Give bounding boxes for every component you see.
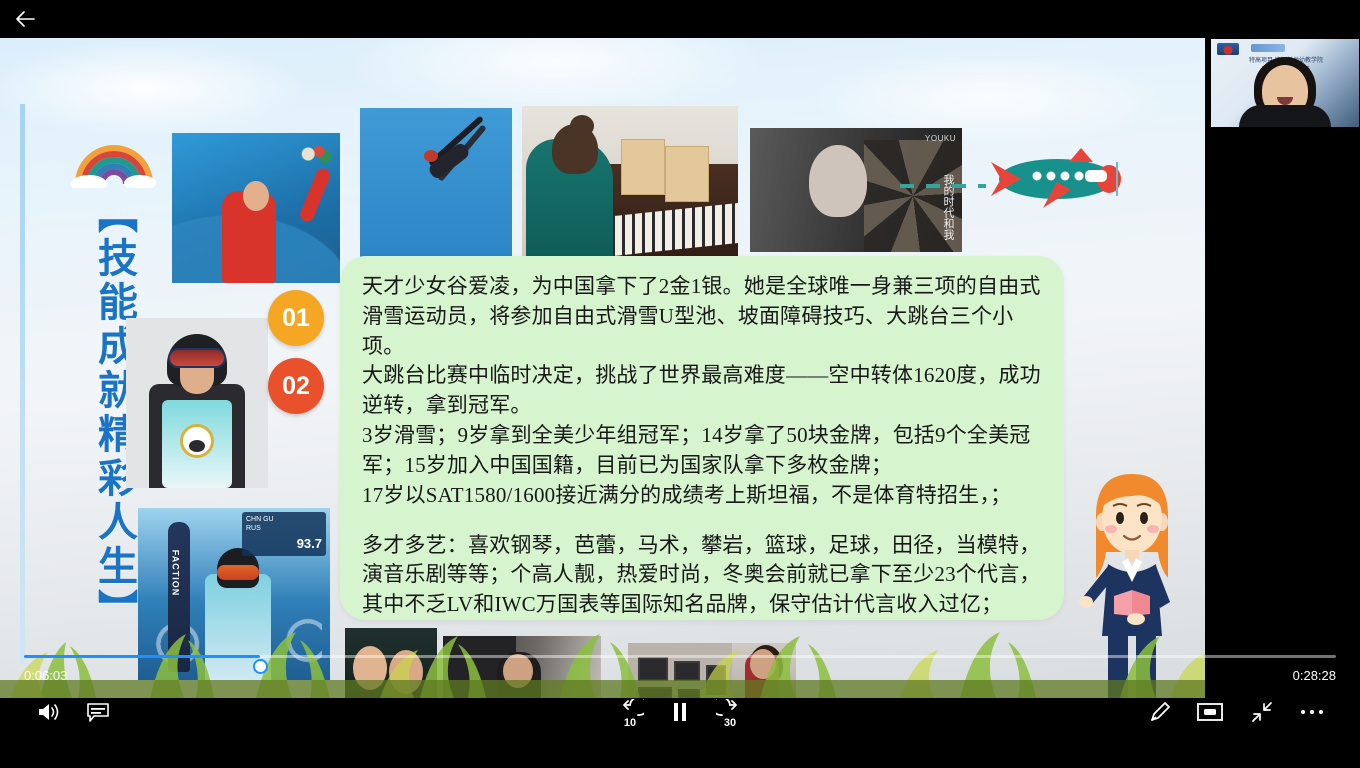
airplane-icon (985, 146, 1121, 212)
score-line-1: CHN GU (246, 515, 322, 524)
screenshot-button[interactable] (1188, 692, 1232, 732)
secondary-logo-icon (1251, 44, 1285, 52)
photo-ski-jump (360, 108, 512, 258)
annotate-button[interactable] (1138, 692, 1182, 732)
presenter-camera[interactable]: 特高项目-实训基地幼教学院 建设领军人才培养 过程研讨会 (1210, 38, 1360, 128)
badge-02: 02 (268, 358, 324, 414)
paragraph-2: 大跳台比赛中临时决定，挑战了世界最高难度——空中转体1620度，成功逆转，拿到冠… (362, 361, 1052, 421)
photo-medal-ceremony (172, 133, 340, 283)
photo-piano (522, 106, 738, 258)
forward-seconds-label: 30 (724, 717, 736, 729)
score-overlay: CHN GU RUS 93.7 (242, 512, 326, 556)
badge-01: 01 (268, 290, 324, 346)
photo-magazine: YOUKU 我的时代和我 (750, 128, 962, 252)
slide-stage: 【技能成就精彩人生】 FACTION CHN GU RUS 93.7 (0, 38, 1205, 698)
seek-track[interactable] (24, 655, 1336, 658)
pause-icon (670, 701, 690, 723)
top-bar (0, 0, 1360, 38)
score-line-2: RUS (246, 524, 322, 533)
current-time: 0:06:03 (24, 668, 67, 683)
volume-icon (36, 701, 60, 723)
volume-button[interactable] (26, 692, 70, 732)
play-pause-button[interactable] (658, 692, 702, 732)
paragraph-3: 3岁滑雪；9岁拿到全美少年组冠军；14岁拿了50块金牌，包括9个全美冠军；15岁… (362, 421, 1052, 481)
total-time: 0:28:28 (1293, 668, 1336, 683)
ski-brand-text: FACTION (170, 550, 180, 597)
rewind-10-button[interactable]: 10 (608, 692, 652, 732)
airplane-trail (900, 184, 986, 188)
more-options-button[interactable] (1290, 692, 1334, 732)
exit-fullscreen-button[interactable] (1240, 692, 1284, 732)
back-button[interactable] (8, 4, 42, 34)
progress-row[interactable] (0, 645, 1360, 669)
forward-30-button[interactable]: 30 (708, 692, 752, 732)
pencil-icon (1148, 700, 1172, 724)
subtitles-button[interactable] (76, 692, 120, 732)
emblem-icon (1217, 43, 1239, 55)
control-bar: 10 30 (0, 692, 1360, 738)
page-title: 【技能成就精彩人生】 (62, 193, 134, 633)
seek-fill (24, 655, 260, 658)
content-card: 天才少女谷爱凌，为中国拿下了2金1银。她是全球唯一身兼三项的自由式滑雪运动员，将… (340, 256, 1064, 620)
rewind-seconds-label: 10 (624, 717, 636, 729)
rainbow-icon (70, 138, 158, 188)
paragraph-1: 天才少女谷爱凌，为中国拿下了2金1银。她是全球唯一身兼三项的自由式滑雪运动员，将… (362, 272, 1052, 361)
screenshot-icon (1197, 702, 1223, 722)
score-value: 93.7 (246, 535, 322, 553)
card-text-block: 天才少女谷爱凌，为中国拿下了2金1银。她是全球唯一身兼三项的自由式滑雪运动员，将… (362, 272, 1052, 620)
more-options-icon (1301, 710, 1323, 714)
paragraph-4: 17岁以SAT1580/1600接近满分的成绩考上斯坦福，不是体育特招生，； (362, 481, 1052, 511)
photo-mascot-trophy (126, 318, 268, 488)
paragraph-5: 多才多艺：喜欢钢琴，芭蕾，马术，攀岩，篮球，足球，田径，当模特，演音乐剧等等；个… (362, 531, 1052, 620)
photo-watermark: YOUKU (925, 134, 956, 143)
subtitles-icon (86, 702, 110, 722)
exit-fullscreen-icon (1250, 700, 1274, 724)
left-accent-rule (20, 104, 25, 664)
video-player-page: 【技能成就精彩人生】 FACTION CHN GU RUS 93.7 (0, 0, 1360, 768)
